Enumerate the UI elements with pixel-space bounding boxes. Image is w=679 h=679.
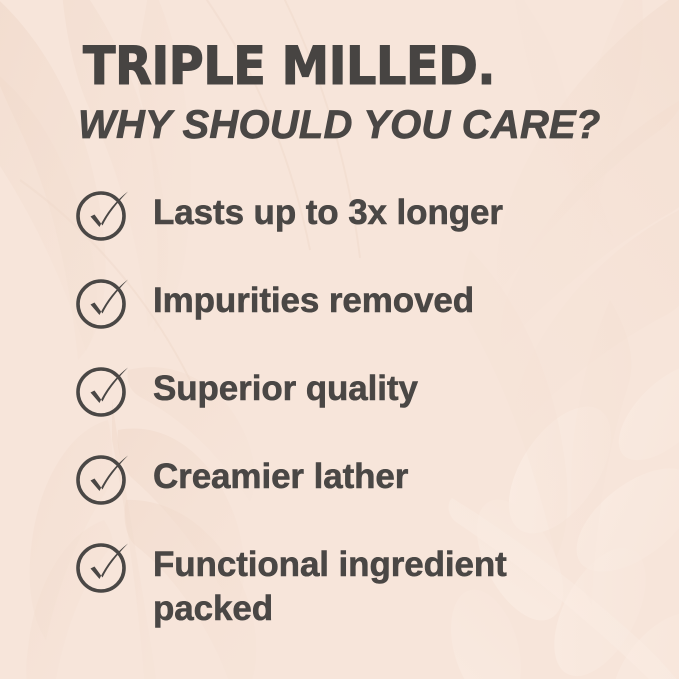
list-item-label: Lasts up to 3x longer — [153, 191, 598, 235]
list-item-label: Impurities removed — [153, 279, 598, 323]
list-item-label: Functional ingredient packed — [153, 543, 598, 631]
list-item: Functional ingredient packed — [0, 538, 679, 626]
list-item: Lasts up to 3x longer — [0, 186, 679, 274]
check-circle-icon — [73, 535, 135, 597]
page-subtitle: WHY SHOULD YOU CARE? — [78, 105, 601, 145]
check-circle-icon — [73, 359, 135, 421]
check-circle-icon — [73, 183, 135, 245]
list-item: Creamier lather — [0, 450, 679, 538]
poster-canvas: TRIPLE MILLED. WHY SHOULD YOU CARE? Last… — [0, 0, 679, 679]
list-item-label: Superior quality — [153, 367, 598, 411]
content-layer: TRIPLE MILLED. WHY SHOULD YOU CARE? Last… — [0, 0, 679, 679]
check-circle-icon — [73, 447, 135, 509]
list-item: Impurities removed — [0, 274, 679, 362]
list-item-label: Creamier lather — [153, 455, 598, 499]
check-circle-icon — [73, 271, 135, 333]
page-title: TRIPLE MILLED. — [83, 40, 495, 93]
benefits-list: Lasts up to 3x longer Impurities removed… — [0, 186, 679, 626]
list-item: Superior quality — [0, 362, 679, 450]
